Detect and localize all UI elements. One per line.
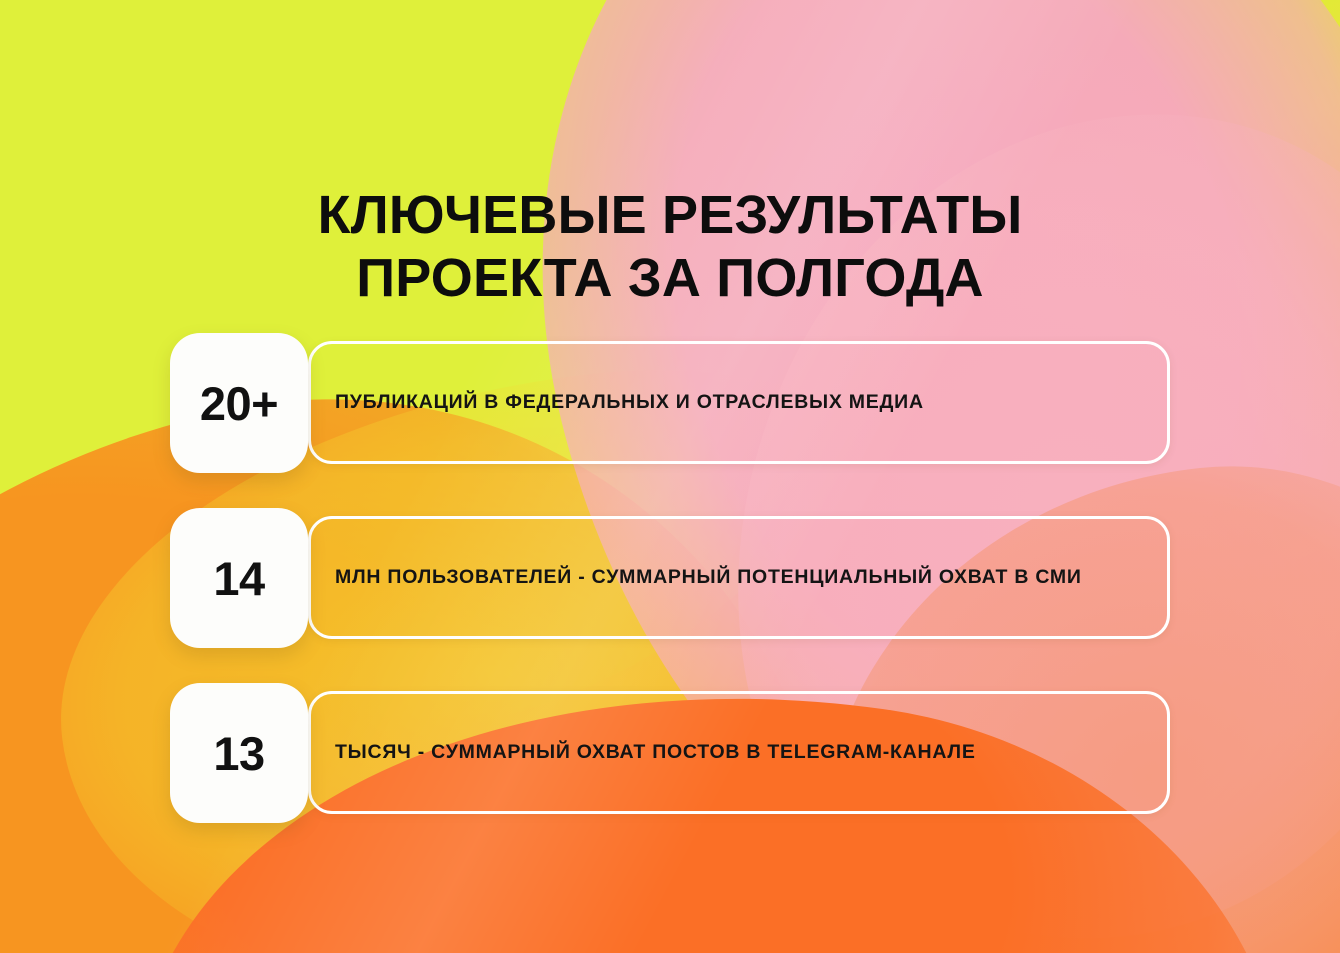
stat-badge: 13 xyxy=(170,683,308,823)
stat-bar: ПУБЛИКАЦИЙ В ФЕДЕРАЛЬНЫХ И ОТРАСЛЕВЫХ МЕ… xyxy=(308,341,1170,464)
infographic-slide: КЛЮЧЕВЫЕ РЕЗУЛЬТАТЫ ПРОЕКТА ЗА ПОЛГОДА П… xyxy=(0,0,1340,953)
stat-row: МЛН ПОЛЬЗОВАТЕЛЕЙ - СУММАРНЫЙ ПОТЕНЦИАЛЬ… xyxy=(170,508,1170,648)
stat-bar: МЛН ПОЛЬЗОВАТЕЛЕЙ - СУММАРНЫЙ ПОТЕНЦИАЛЬ… xyxy=(308,516,1170,639)
stat-badge: 14 xyxy=(170,508,308,648)
stat-number: 14 xyxy=(213,555,264,602)
stat-number: 13 xyxy=(213,730,264,777)
stat-label: МЛН ПОЛЬЗОВАТЕЛЕЙ - СУММАРНЫЙ ПОТЕНЦИАЛЬ… xyxy=(335,566,1082,589)
stat-badge: 20+ xyxy=(170,333,308,473)
stat-row: ТЫСЯЧ - СУММАРНЫЙ ОХВАТ ПОСТОВ В TELEGRA… xyxy=(170,683,1170,823)
stat-label: ТЫСЯЧ - СУММАРНЫЙ ОХВАТ ПОСТОВ В TELEGRA… xyxy=(335,741,976,764)
stat-number: 20+ xyxy=(200,380,278,427)
stat-bar: ТЫСЯЧ - СУММАРНЫЙ ОХВАТ ПОСТОВ В TELEGRA… xyxy=(308,691,1170,814)
stat-row: ПУБЛИКАЦИЙ В ФЕДЕРАЛЬНЫХ И ОТРАСЛЕВЫХ МЕ… xyxy=(170,333,1170,473)
stat-label: ПУБЛИКАЦИЙ В ФЕДЕРАЛЬНЫХ И ОТРАСЛЕВЫХ МЕ… xyxy=(335,391,924,414)
stats-list: ПУБЛИКАЦИЙ В ФЕДЕРАЛЬНЫХ И ОТРАСЛЕВЫХ МЕ… xyxy=(0,0,1340,953)
